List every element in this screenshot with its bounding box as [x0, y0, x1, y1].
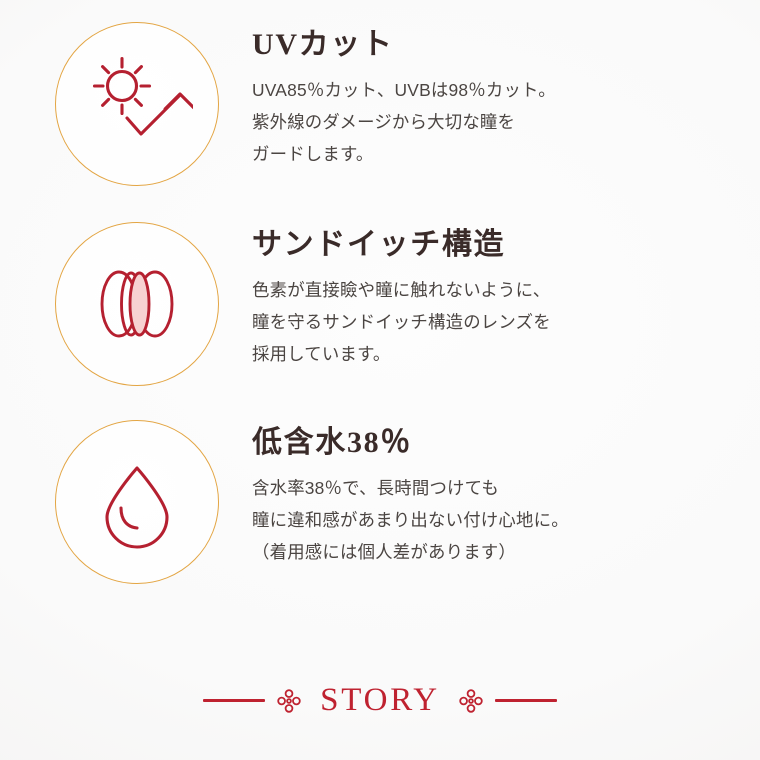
- divider-rule-right: [495, 699, 557, 702]
- feature-icon-wrap: [0, 222, 252, 386]
- divider-rule-left: [203, 699, 265, 702]
- feature-description: 色素が直接瞼や瞳に触れないように、 瞳を守るサンドイッチ構造のレンズを 採用して…: [252, 275, 760, 370]
- feature-item-uv-cut: UVカット UVA85％カット、UVBは98％カット。 紫外線のダメージから大切…: [0, 22, 760, 186]
- sandwich-lens-icon: [81, 248, 193, 360]
- quatrefoil-ornament-left: [276, 688, 302, 714]
- story-label: STORY: [313, 684, 447, 717]
- feature-description-line: 瞳を守るサンドイッチ構造のレンズを: [252, 307, 760, 339]
- feature-icon-wrap: [0, 22, 252, 186]
- feature-description-line: 含水率38％で、長時間つけても: [252, 473, 760, 505]
- icon-circle-frame: [55, 22, 219, 186]
- feature-description-line: （着用感には個人差があります）: [252, 537, 760, 569]
- feature-description-line: ガードします。: [252, 139, 760, 171]
- feature-list-page: UVカット UVA85％カット、UVBは98％カット。 紫外線のダメージから大切…: [0, 0, 760, 760]
- feature-title: 低含水38％: [252, 424, 760, 462]
- quatrefoil-ornament-right: [458, 688, 484, 714]
- feature-title: サンドイッチ構造: [252, 226, 760, 264]
- feature-description-line: 採用しています。: [252, 339, 760, 371]
- feature-description: UVA85％カット、UVBは98％カット。 紫外線のダメージから大切な瞳を ガー…: [252, 75, 760, 170]
- feature-item-low-water-content: 低含水38％ 含水率38％で、長時間つけても 瞳に違和感があまり出ない付け心地に…: [0, 420, 760, 584]
- icon-circle-frame: [55, 222, 219, 386]
- feature-description-line: UVA85％カット、UVBは98％カット。: [252, 75, 760, 107]
- icon-circle-frame: [55, 420, 219, 584]
- feature-description-line: 色素が直接瞼や瞳に触れないように、: [252, 275, 760, 307]
- feature-text-column: サンドイッチ構造 色素が直接瞼や瞳に触れないように、 瞳を守るサンドイッチ構造の…: [252, 222, 760, 370]
- story-section-divider: STORY: [0, 684, 760, 717]
- feature-description: 含水率38％で、長時間つけても 瞳に違和感があまり出ない付け心地に。 （着用感に…: [252, 473, 760, 568]
- feature-text-column: UVカット UVA85％カット、UVBは98％カット。 紫外線のダメージから大切…: [252, 22, 760, 170]
- water-drop-icon: [81, 446, 193, 558]
- feature-title: UVカット: [252, 26, 760, 64]
- sun-uv-deflect-icon: [81, 48, 193, 160]
- feature-description-line: 瞳に違和感があまり出ない付け心地に。: [252, 505, 760, 537]
- feature-item-sandwich-structure: サンドイッチ構造 色素が直接瞼や瞳に触れないように、 瞳を守るサンドイッチ構造の…: [0, 222, 760, 386]
- feature-icon-wrap: [0, 420, 252, 584]
- feature-description-line: 紫外線のダメージから大切な瞳を: [252, 107, 760, 139]
- feature-text-column: 低含水38％ 含水率38％で、長時間つけても 瞳に違和感があまり出ない付け心地に…: [252, 420, 760, 568]
